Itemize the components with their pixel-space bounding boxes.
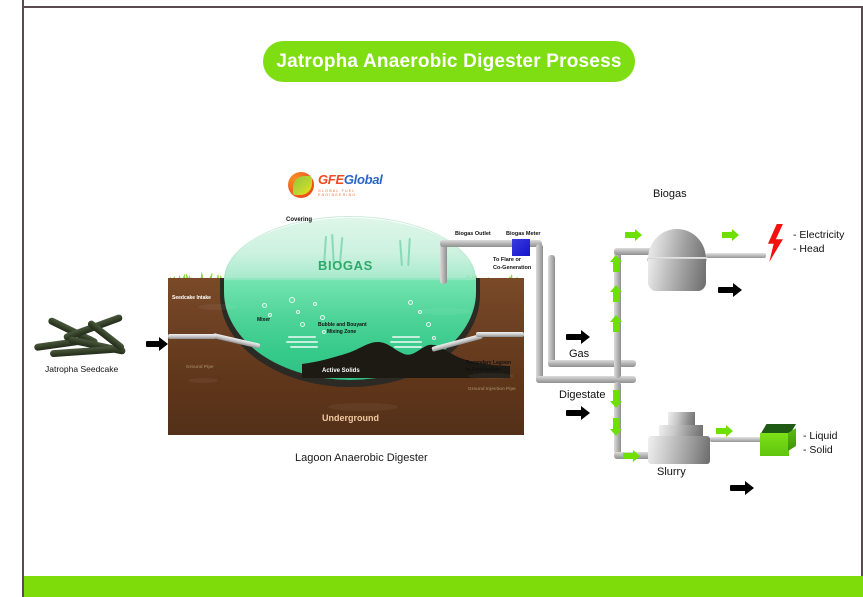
label-active-solids: Active Solids (322, 368, 360, 374)
logo-secondary-text: Global (344, 172, 383, 187)
gas-line-down (536, 244, 543, 382)
bubble (432, 336, 436, 340)
bubble (418, 310, 422, 314)
label-slurry-equipment: Slurry (657, 466, 686, 478)
label-mixer: Mixer (257, 317, 270, 323)
bubble (408, 300, 413, 305)
logo-leaf-icon (288, 172, 314, 198)
label-biogas-gas-space: BIOGAS (318, 258, 373, 273)
bubble (426, 322, 431, 327)
label-bubble-zone-2: Mixing Zone (327, 329, 356, 335)
page-title: Jatropha Anaerobic Digester Prosess (276, 51, 621, 73)
bubble (313, 302, 317, 306)
page-frame-left (22, 0, 24, 597)
mixing-wave (392, 336, 420, 338)
label-to-flare-1: To Flare or (493, 257, 521, 264)
label-gas-flow: Gas (569, 348, 589, 360)
electricity-output-pipe (706, 253, 766, 258)
label-to-flare-2: Co-Generation (493, 265, 531, 272)
label-secondary-lagoon-1: Secondary Lagoon (466, 360, 511, 366)
label-bubble-zone-1: Bubble and Bouyant (318, 322, 367, 328)
label-output-electricity: - Electricity (793, 228, 844, 242)
intake-feed-pipe (168, 334, 216, 339)
logo-tagline: GLOBAL FUEL ENGINEERING (318, 190, 388, 197)
biogas-tank-body (648, 259, 706, 291)
outflow-pipe (476, 332, 524, 337)
label-underground: Underground (322, 413, 379, 423)
label-ground-pipe: Ground Pipe (186, 364, 214, 370)
label-biogas-equipment: Biogas (653, 188, 687, 200)
jatropha-seedcake-icon (32, 318, 138, 362)
label-biogas-meter: Biogas Meter (506, 231, 541, 238)
fertilizer-box-front (760, 433, 789, 456)
fertilizer-box-icon (760, 424, 796, 456)
slurry-tank-body (648, 436, 710, 464)
logo-wordmark: GFEGlobal GLOBAL FUEL ENGINEERING (318, 172, 388, 197)
lightning-bolt-icon (764, 224, 786, 262)
digester-caption: Lagoon Anaerobic Digester (295, 452, 428, 464)
label-output-solid: - Solid (803, 443, 833, 457)
mixing-wave (390, 341, 422, 343)
diagram-page: Jatropha Anaerobic Digester Prosess GFEG… (0, 0, 863, 597)
bubble (262, 303, 267, 308)
gas-line-inner-bottom (548, 360, 636, 367)
bubble (289, 297, 295, 303)
digester-ground-cross-section: Seedcake Intake Ground Pipe Secondary La… (168, 278, 524, 435)
label-output-liquid: - Liquid (803, 429, 837, 443)
label-secondary-lagoon-2: to Fertilization (466, 367, 500, 373)
label-covering: Covering (286, 217, 312, 223)
mixing-wave (286, 341, 318, 343)
slurry-tank (648, 412, 710, 464)
label-seedcake-intake: Seedcake Intake (172, 295, 211, 301)
gfe-global-logo: GFEGlobal GLOBAL FUEL ENGINEERING (288, 170, 388, 200)
biogas-meter (512, 239, 530, 256)
fertilizer-output-pipe (710, 437, 764, 442)
mixing-wave (394, 346, 422, 348)
label-biogas-outlet: Biogas Outlet (455, 231, 491, 238)
mixing-wave (288, 336, 316, 338)
page-bottom-band (24, 576, 863, 597)
bubble (322, 330, 326, 334)
bubble (296, 310, 300, 314)
bubble (300, 322, 305, 327)
label-digestate-flow: Digestate (559, 389, 605, 401)
biogas-storage-tank (648, 229, 706, 291)
gas-line-inner-down (548, 255, 555, 367)
page-title-banner: Jatropha Anaerobic Digester Prosess (263, 41, 635, 82)
label-jatropha-seedcake: Jatropha Seedcake (45, 364, 118, 374)
label-output-head: - Head (793, 242, 825, 256)
logo-primary-text: GFE (318, 172, 344, 187)
label-ground-injection-pipe: Ground Injection Pipe (468, 386, 516, 392)
gas-line-bottom (536, 376, 636, 383)
mixing-wave (290, 346, 318, 348)
bubble (320, 315, 325, 320)
page-frame-top (22, 6, 863, 8)
